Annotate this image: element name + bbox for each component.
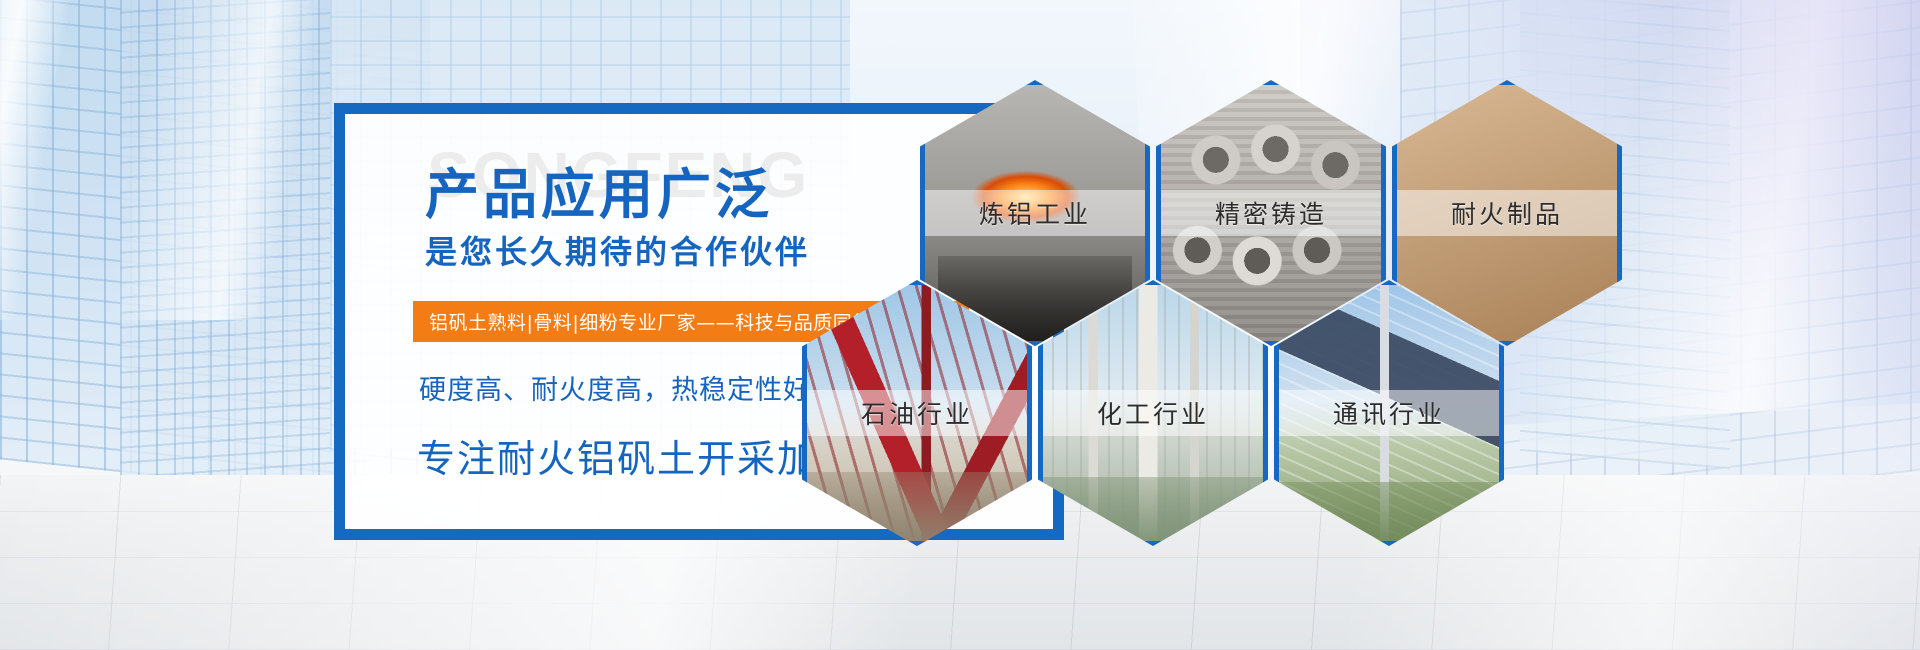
hexagon-caption: 炼铝工业	[920, 190, 1150, 236]
hexagon-caption: 化工行业	[1038, 390, 1268, 436]
application-hexagon-grid: 炼铝工业 精密铸造 耐火制品 石油行业	[920, 80, 1680, 600]
hexagon-caption: 石油行业	[802, 390, 1032, 436]
company-slogan: 专注耐火铝矾土开采加工	[417, 428, 857, 483]
hexagon-caption-label: 石油行业	[861, 395, 973, 431]
hexagon-caption-label: 通讯行业	[1333, 395, 1445, 431]
hexagon-caption: 精密铸造	[1156, 190, 1386, 236]
banner-subheadline: 是您长久期待的合作伙伴	[425, 227, 810, 273]
hexagon-caption: 耐火制品	[1392, 190, 1622, 236]
hexagon-caption-label: 耐火制品	[1451, 195, 1563, 231]
hexagon-caption: 通讯行业	[1274, 390, 1504, 436]
tagline-orange-bar-text: 铝矾土熟料|骨料|细粉专业厂家——科技与品质同行	[429, 308, 872, 335]
hexagon-caption-label: 化工行业	[1097, 395, 1209, 431]
banner-headline: 产品应用广泛	[425, 150, 773, 229]
hexagon-caption-label: 炼铝工业	[979, 195, 1091, 231]
hexagon-caption-label: 精密铸造	[1215, 195, 1327, 231]
promotional-banner: SONGFENG 产品应用广泛 是您长久期待的合作伙伴 铝矾土熟料|骨料|细粉专…	[0, 0, 1920, 650]
